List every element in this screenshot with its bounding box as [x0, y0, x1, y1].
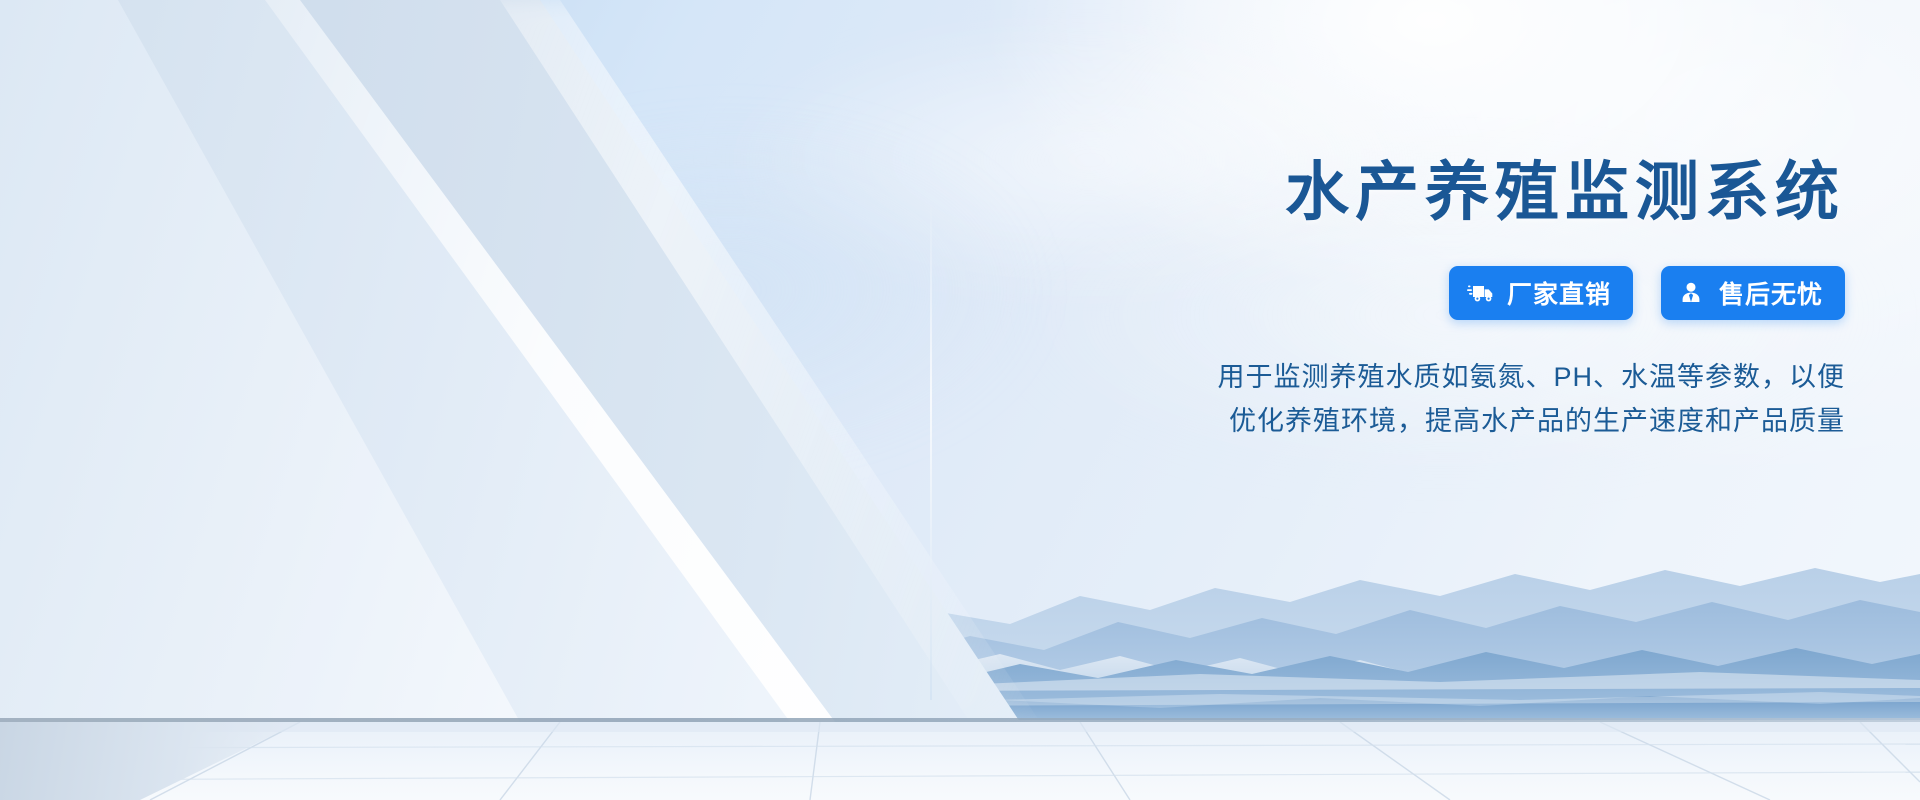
- plaza-floor: [0, 722, 1920, 800]
- glass-wedge-near: [0, 0, 880, 722]
- hero-banner: 水产养殖监测系统: [0, 0, 1920, 800]
- page-title: 水产养殖监测系统: [865, 160, 1845, 224]
- person-support-icon: [1679, 280, 1709, 306]
- floor-left-shadow: [0, 722, 330, 800]
- mountain-range: [0, 470, 1920, 725]
- glass-wedge-mid: [0, 0, 1000, 722]
- page-description: 用于监测养殖水质如氨氮、PH、水温等参数，以便 优化养殖环境，提高水产品的生产速…: [865, 356, 1845, 443]
- badge-after-sales-label: 售后无忧: [1719, 275, 1823, 311]
- description-line-2: 优化养殖环境，提高水产品的生产速度和产品质量: [865, 400, 1845, 444]
- badge-group: 厂家直销 售后无忧: [865, 266, 1845, 320]
- badge-after-sales[interactable]: 售后无忧: [1661, 266, 1845, 320]
- badge-factory-direct-label: 厂家直销: [1507, 275, 1611, 311]
- hero-content: 水产养殖监测系统: [865, 160, 1845, 443]
- description-line-1: 用于监测养殖水质如氨氮、PH、水温等参数，以便: [865, 356, 1845, 400]
- glass-wedge-edge-highlight: [0, 0, 900, 722]
- truck-icon: [1467, 280, 1497, 306]
- horizon-line: [0, 718, 1920, 722]
- badge-factory-direct[interactable]: 厂家直销: [1449, 266, 1633, 320]
